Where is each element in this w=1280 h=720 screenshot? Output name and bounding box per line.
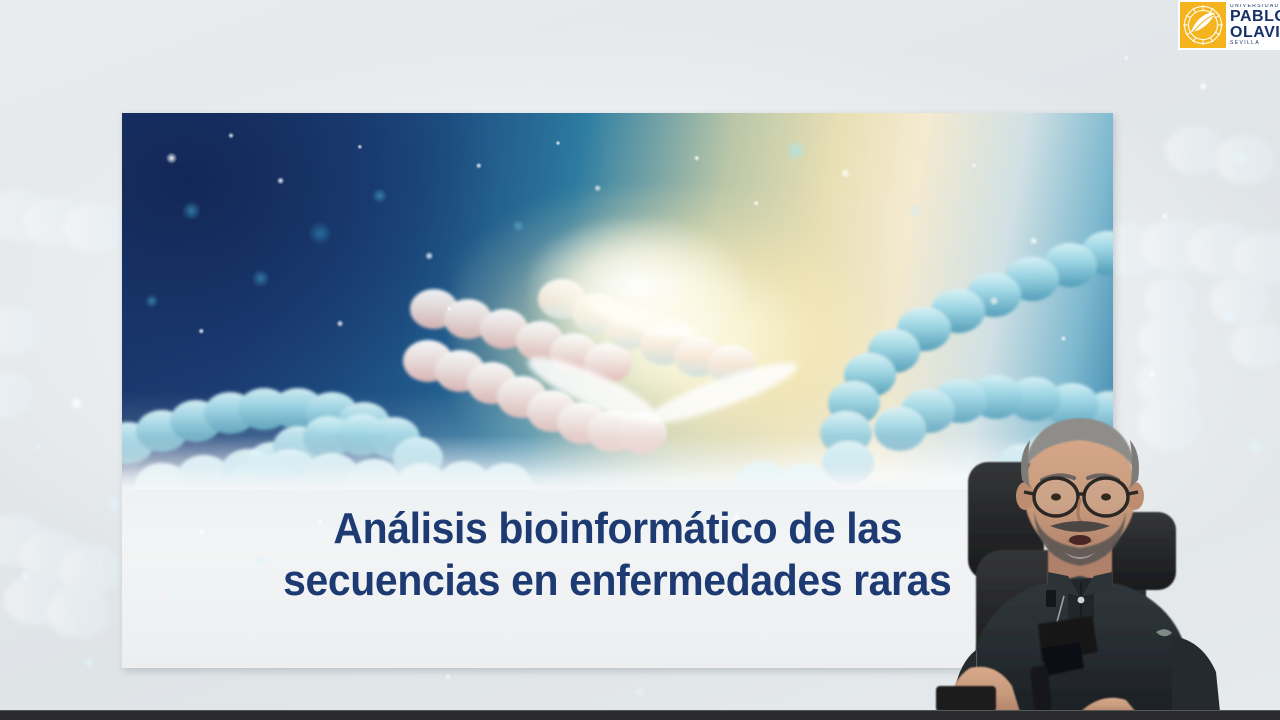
university-logo: UNIVERSIDAD PABLO OLAVIDE SEVILLA [1178, 0, 1280, 50]
presenter-background [930, 400, 1280, 712]
logo-line-sevilla: SEVILLA [1230, 41, 1280, 46]
presenter-webcam-overlay [930, 400, 1280, 712]
logo-line-olavide: OLAVIDE [1230, 25, 1280, 41]
olavide-sun-icon [1180, 2, 1226, 48]
logo-wordmark: UNIVERSIDAD PABLO OLAVIDE SEVILLA [1230, 4, 1280, 47]
slide-title-line-1: Análisis bioinformático de las [333, 503, 902, 555]
logo-line-pablo: PABLO [1230, 9, 1280, 25]
slide-title-line-2: secuencias en enfermedades raras [283, 555, 951, 607]
video-lecture-frame: Análisis bioinformático de las secuencia… [0, 0, 1280, 720]
player-bar[interactable] [0, 710, 1280, 720]
